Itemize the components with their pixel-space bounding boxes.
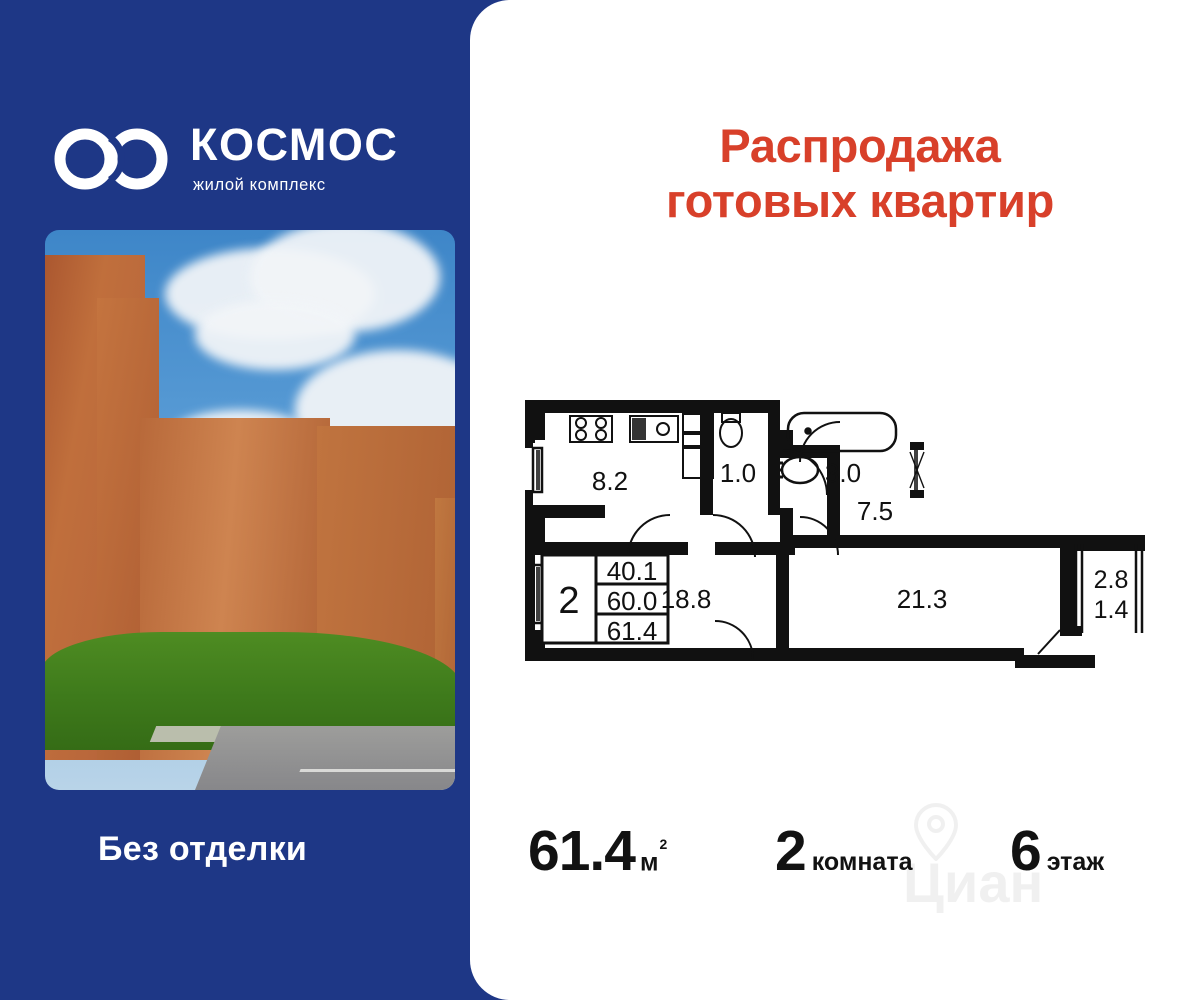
room-area-living-room: 21.3 xyxy=(897,584,948,614)
infinity-loop-icon xyxy=(52,128,170,190)
brand-name: КОСМОС xyxy=(190,122,398,167)
room-area-wc: 1.0 xyxy=(720,458,756,488)
room-area-kitchen: 8.2 xyxy=(592,466,628,496)
badge-area-total-no-balcony: 60.0 xyxy=(607,586,658,616)
cloud xyxy=(195,300,355,370)
room-area-balcony-reduced: 1.4 xyxy=(1094,596,1129,624)
summary-rooms-label: комната xyxy=(812,848,913,877)
room-area-bathroom: 3.0 xyxy=(825,458,861,488)
headline-line-2: готовых квартир xyxy=(666,174,1054,227)
badge-area-living: 40.1 xyxy=(607,556,658,586)
headline-line-1: Распродажа xyxy=(719,119,1000,172)
summary-area: 61.4 м2 xyxy=(528,818,666,884)
page-title: Распродажа готовых квартир xyxy=(600,118,1120,229)
summary-rooms: 2 комната xyxy=(775,818,912,884)
listing-card-root: КОСМОС жилой комплекс Без отделки Распро… xyxy=(0,0,1200,1000)
floor-plan: 2 40.1 60.0 61.4 8.2 1.0 3.0 7.5 18.8 21… xyxy=(470,330,1200,730)
summary-area-unit: м2 xyxy=(640,848,666,877)
summary-row: 61.4 м2 2 комната 6 этаж xyxy=(470,812,1200,902)
summary-floor: 6 этаж xyxy=(1010,818,1104,884)
finish-caption: Без отделки xyxy=(98,830,307,869)
room-area-hall: 7.5 xyxy=(857,496,893,526)
toilet-icon xyxy=(720,413,742,447)
badge-room-count: 2 xyxy=(558,580,579,622)
brand-logo: КОСМОС жилой комплекс xyxy=(52,122,398,195)
stove-icon xyxy=(570,416,612,442)
summary-floor-label: этаж xyxy=(1047,848,1104,877)
room-area-balcony: 2.8 xyxy=(1094,566,1129,594)
room-area-bedroom: 18.8 xyxy=(661,584,712,614)
road-marking xyxy=(299,769,455,772)
sink-icon xyxy=(630,416,678,442)
road xyxy=(195,726,455,790)
summary-area-value: 61.4 xyxy=(528,818,635,884)
building-photo xyxy=(45,230,455,790)
summary-rooms-value: 2 xyxy=(775,818,806,884)
summary-floor-value: 6 xyxy=(1010,818,1041,884)
badge-area-total: 61.4 xyxy=(607,616,658,646)
brand-subtitle: жилой комплекс xyxy=(193,176,398,195)
